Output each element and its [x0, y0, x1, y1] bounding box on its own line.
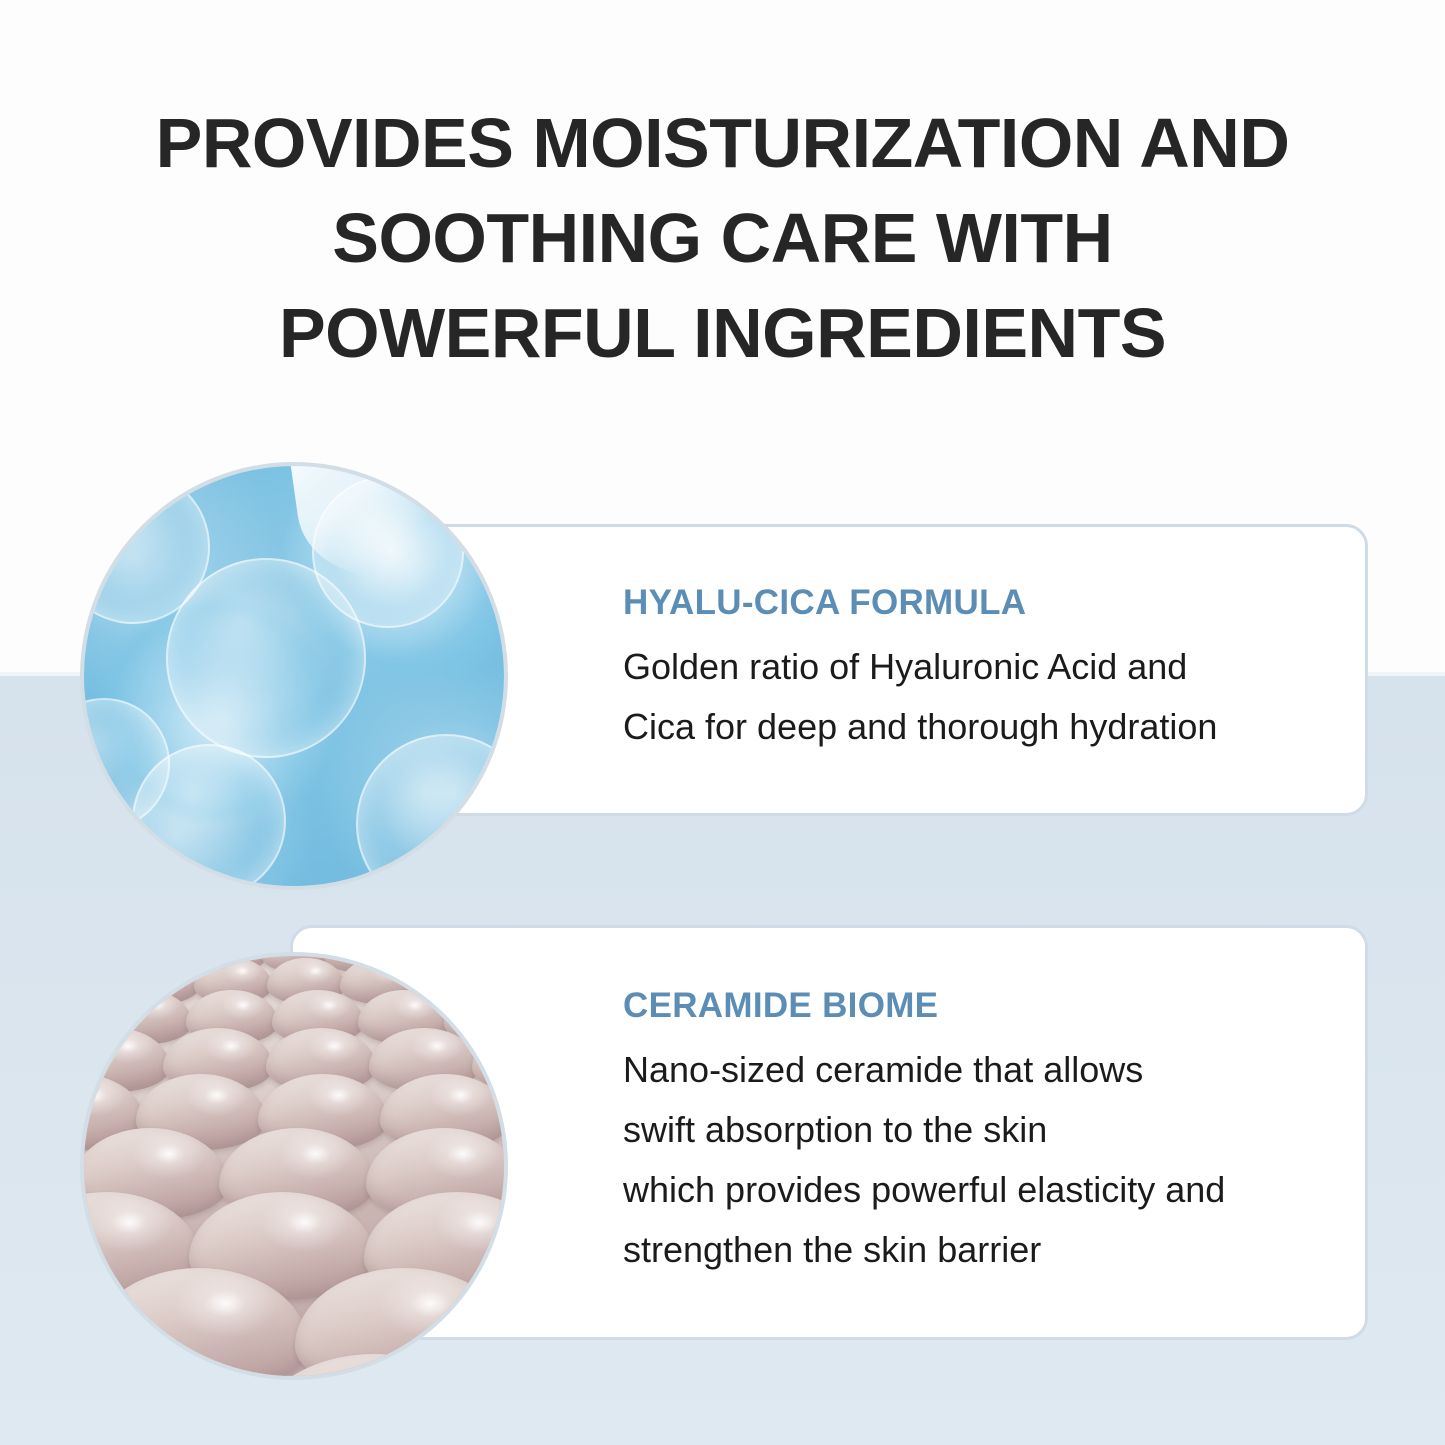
bubble-shape [356, 734, 508, 890]
bubble-shape [166, 558, 366, 758]
feature-description-line: strengthen the skin barrier [623, 1220, 1325, 1280]
headline-line-3: POWERFUL INGREDIENTS [0, 286, 1445, 381]
scales-texture [84, 956, 504, 1376]
feature-title: HYALU-CICA FORMULA [623, 583, 1325, 623]
headline-line-2: SOOTHING CARE WITH [0, 191, 1445, 286]
feature-image-blue-gel-bubbles [80, 462, 508, 890]
feature-description: Golden ratio of Hyaluronic Acid and Cica… [623, 637, 1325, 757]
feature-description-line: Nano-sized ceramide that allows [623, 1040, 1325, 1100]
feature-description-line: swift absorption to the skin [623, 1100, 1325, 1160]
bubble-shape [132, 744, 286, 890]
page-headline: PROVIDES MOISTURIZATION AND SOOTHING CAR… [0, 96, 1445, 381]
feature-description: Nano-sized ceramide that allows swift ab… [623, 1040, 1325, 1280]
headline-line-1: PROVIDES MOISTURIZATION AND [0, 96, 1445, 191]
feature-image-ceramide-domes [80, 952, 508, 1380]
feature-description-line: Golden ratio of Hyaluronic Acid and [623, 637, 1325, 697]
bubbles-texture [84, 466, 504, 886]
feature-card-text-block: HYALU-CICA FORMULA Golden ratio of Hyalu… [623, 527, 1325, 813]
feature-card-text-block: CERAMIDE BIOME Nano-sized ceramide that … [623, 928, 1325, 1337]
feature-description-line: which provides powerful elasticity and [623, 1160, 1325, 1220]
feature-title: CERAMIDE BIOME [623, 986, 1325, 1026]
infographic-page: PROVIDES MOISTURIZATION AND SOOTHING CAR… [0, 0, 1445, 1445]
feature-description-line: Cica for deep and thorough hydration [623, 697, 1325, 757]
